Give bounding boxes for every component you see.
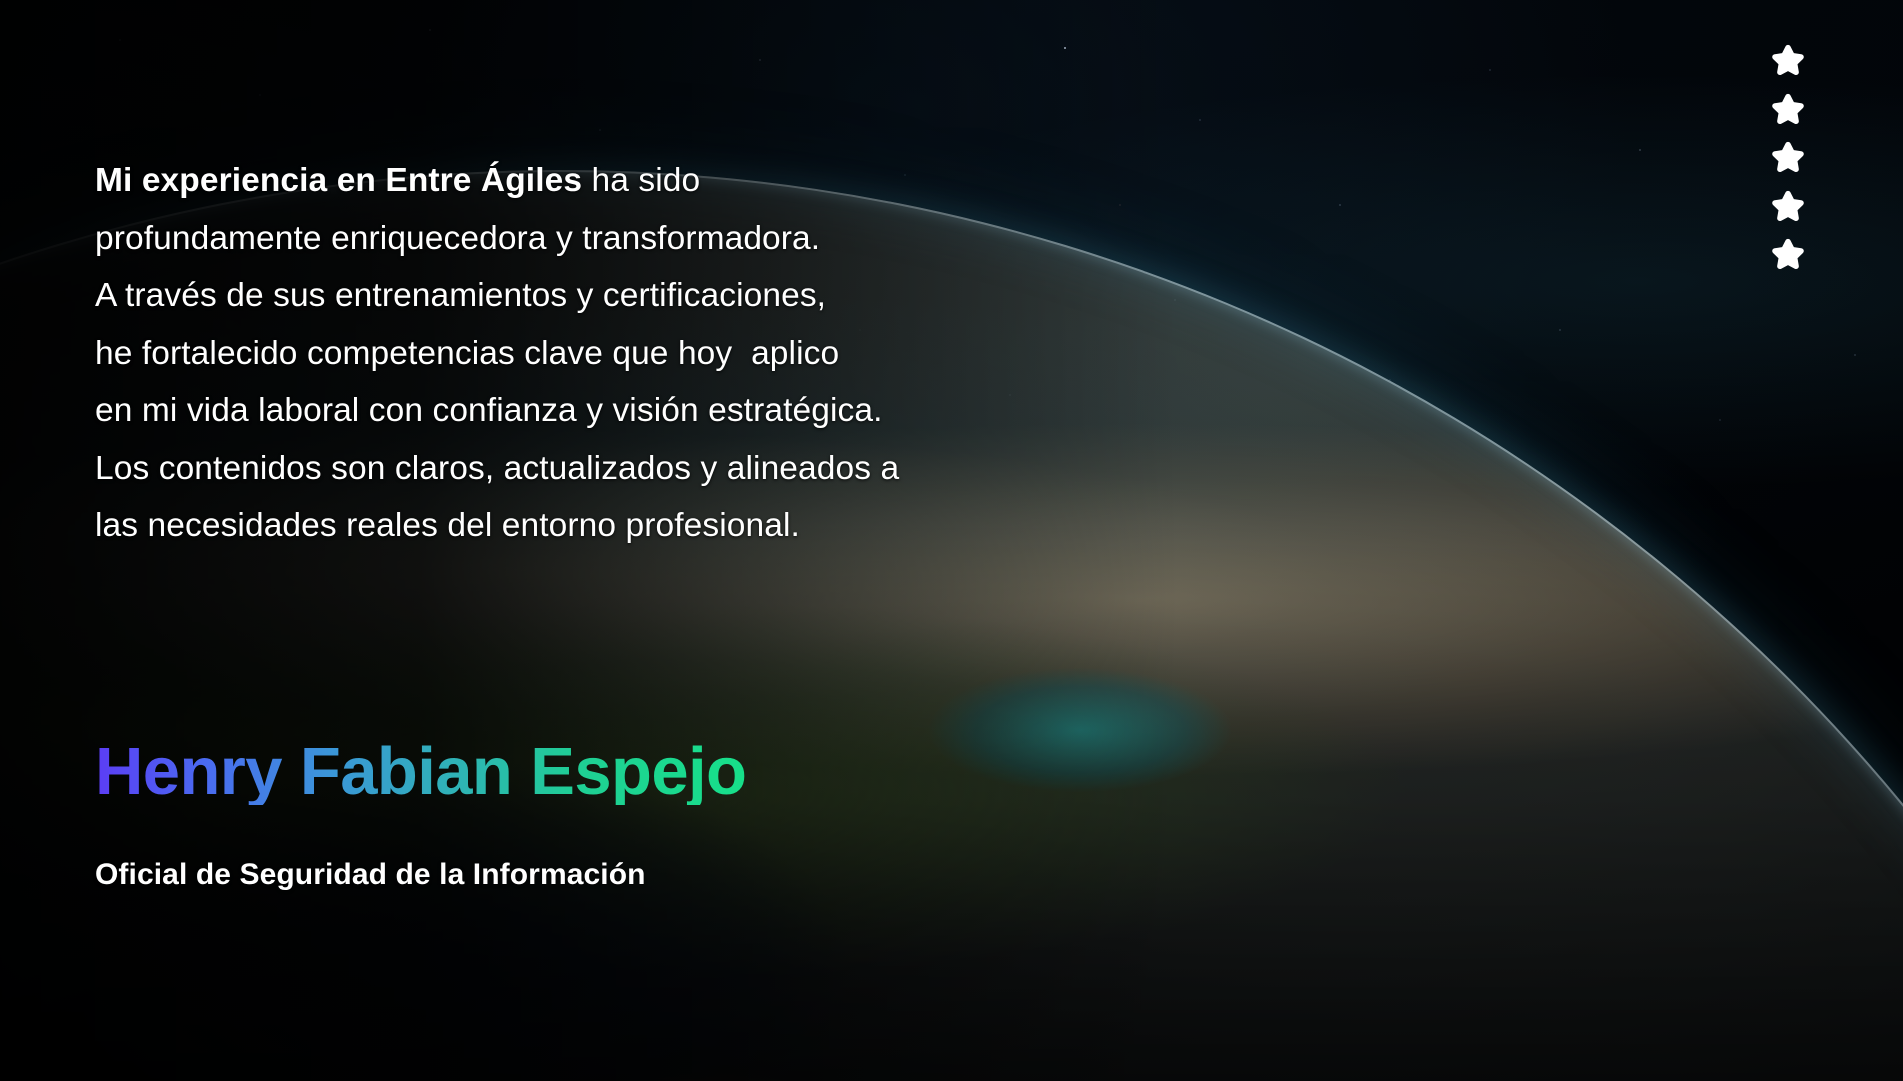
- author-role: Oficial de Seguridad de la Información: [95, 858, 646, 892]
- star-icon: [1768, 139, 1808, 179]
- testimonial-card: Mi experiencia en Entre Ágiles ha sido p…: [0, 0, 1903, 1081]
- author-name: Henry Fabian Espejo: [95, 738, 746, 805]
- star-icon: [1768, 188, 1808, 228]
- quote-highlight: Mi experiencia en Entre Ágiles: [95, 162, 582, 199]
- star-icon: [1768, 42, 1808, 82]
- testimonial-quote: Mi experiencia en Entre Ágiles ha sido p…: [95, 152, 1215, 555]
- star-icon: [1768, 91, 1808, 131]
- quote-body: ha sido profundamente enriquecedora y tr…: [95, 162, 899, 544]
- star-icon: [1768, 236, 1808, 276]
- star-rating: [1757, 42, 1819, 276]
